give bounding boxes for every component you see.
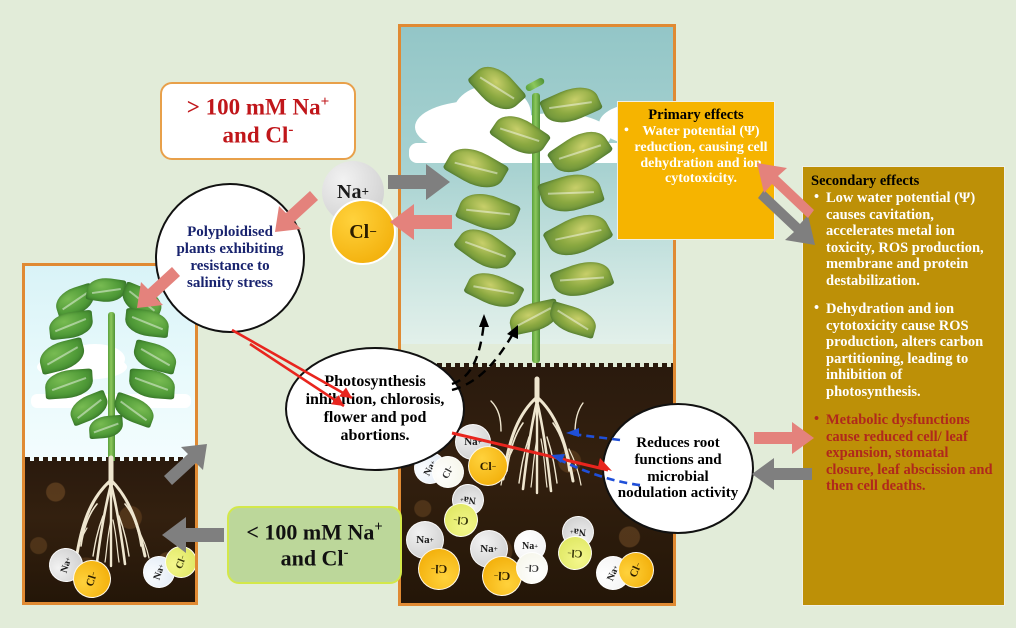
plant-stem bbox=[108, 312, 115, 467]
ellipse-polyploidised-plants: Polyploidised plants exhibiting resistan… bbox=[155, 183, 305, 333]
low-conc-line2: and Cl bbox=[281, 545, 344, 570]
secondary-effects-title: Secondary effects bbox=[811, 173, 996, 190]
ion-chloride: Cl− bbox=[468, 446, 508, 486]
root-system-center bbox=[483, 379, 603, 509]
secondary-effects-list: Low water potential (Ψ) causes cavitatio… bbox=[811, 190, 996, 495]
ellipse-polyploid-text: Polyploidised plants exhibiting resistan… bbox=[167, 224, 293, 291]
secondary-effects-box: Secondary effects Low water potential (Ψ… bbox=[802, 166, 1005, 606]
high-salinity-label: > 100 mM Na+ and Cl- bbox=[160, 82, 356, 160]
left-panel-healthy-plant: Na+ Cl− Na+ Cl− bbox=[22, 263, 198, 605]
primary-effects-list: Water potential (Ψ) reduction, causing c… bbox=[624, 124, 768, 187]
low-conc-line1: < 100 mM Na bbox=[246, 519, 374, 544]
diagram-canvas: Na+ Cl− Na+ Cl− bbox=[0, 0, 1016, 628]
ion-chloride-large: Cl− bbox=[330, 199, 396, 265]
primary-effects-title: Primary effects bbox=[624, 107, 768, 124]
primary-effect-item: Water potential (Ψ) reduction, causing c… bbox=[624, 124, 768, 187]
ellipse-photosynthesis-inhibition: Photosynthesis inhibition, chlorosis, fl… bbox=[285, 347, 465, 471]
high-conc-line2: and Cl bbox=[223, 123, 289, 148]
secondary-effect-item-metabolic: Metabolic dysfunctions cause reduced cel… bbox=[811, 412, 996, 495]
secondary-effect-item: Low water potential (Ψ) causes cavitatio… bbox=[811, 190, 996, 289]
primary-effects-box: Primary effects Water potential (Ψ) redu… bbox=[617, 101, 775, 240]
high-conc-line1: > 100 mM Na bbox=[187, 95, 321, 120]
low-salinity-label: < 100 mM Na+ and Cl- bbox=[227, 506, 402, 584]
ellipse-root-text: Reduces root functions and microbial nod… bbox=[614, 435, 742, 502]
ellipse-photosynthesis-text: Photosynthesis inhibition, chlorosis, fl… bbox=[295, 373, 455, 445]
ellipse-root-functions: Reduces root functions and microbial nod… bbox=[602, 403, 754, 534]
secondary-effect-item: Dehydration and ion cytotoxicity cause R… bbox=[811, 301, 996, 400]
